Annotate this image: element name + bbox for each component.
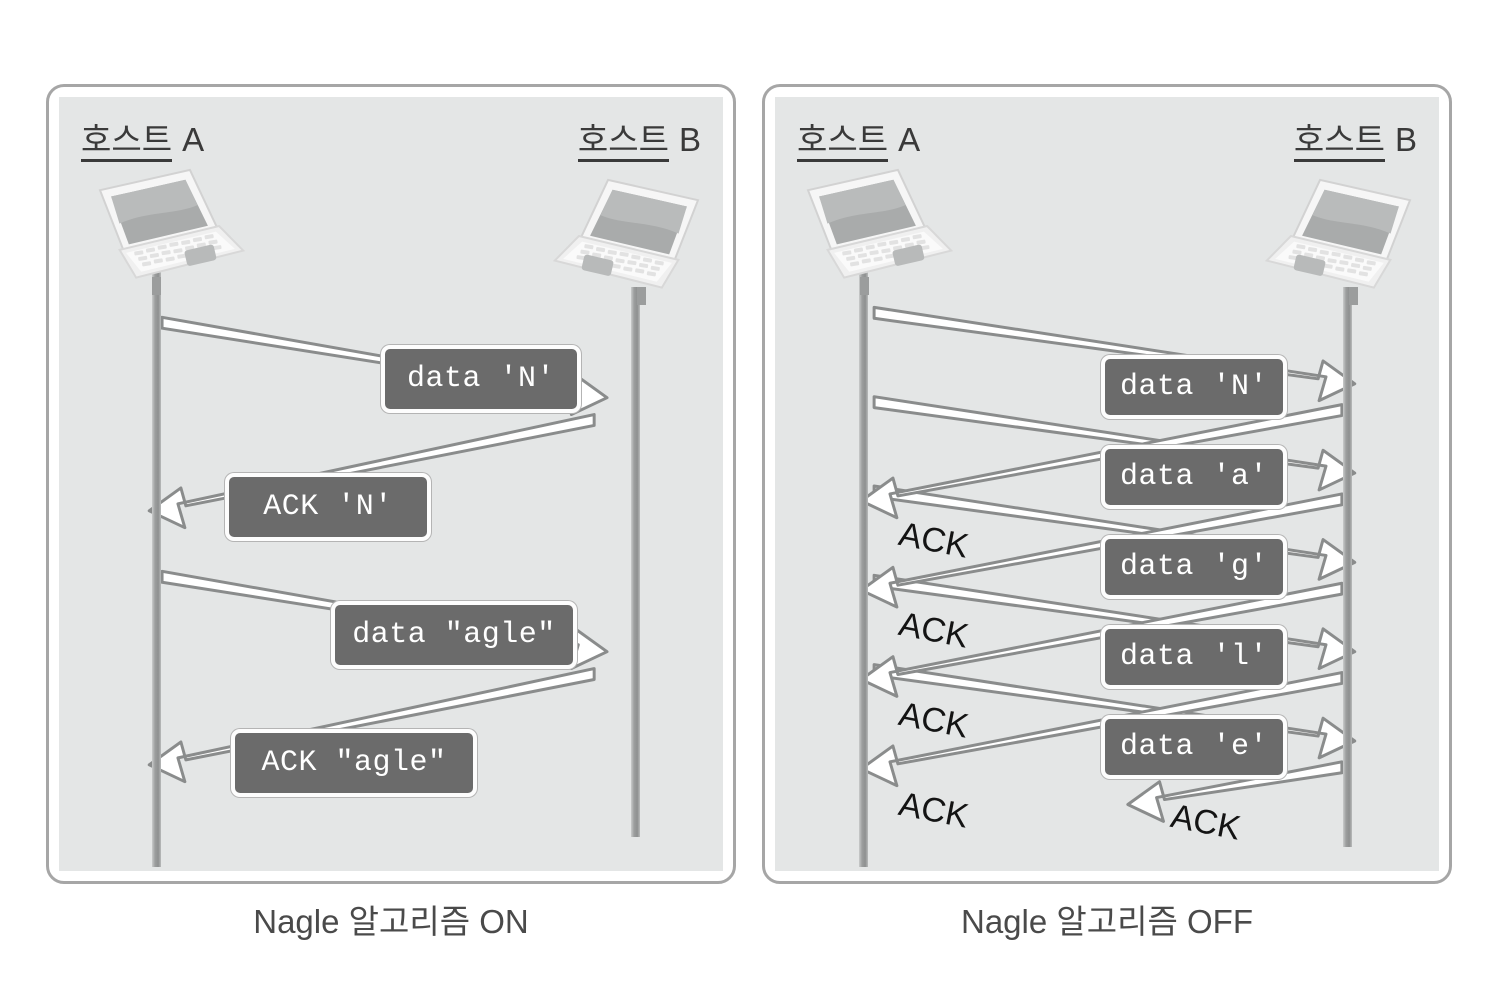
lifeline-host-a-on [152,267,161,867]
ack-label: ACK [1168,797,1244,849]
figure-root: 호스트A 호스트B [0,0,1491,1000]
panel-nagle-on-inner: 호스트A 호스트B [59,97,723,871]
host-label-b-on: 호스트B [578,113,701,161]
message-box: ACK "agle" [231,729,477,797]
lifeline-host-b-on [631,287,640,837]
ack-label: ACK [896,515,972,567]
message-box: data 'N' [1101,355,1287,419]
host-label-a-on-prefix: 호스트 [81,121,172,162]
lifeline-host-b-off [1343,287,1352,847]
host-label-a-off-name: A [888,121,920,158]
laptop-icon [77,165,247,295]
laptop-icon [551,175,721,305]
lifeline-host-a-off [859,267,868,867]
laptop-icon [785,165,955,295]
message-box: data 'g' [1101,535,1287,599]
host-label-a-on-name: A [172,121,204,158]
ack-label: ACK [896,695,972,747]
host-label-b-on-name: B [669,121,701,158]
message-box: data 'e' [1101,715,1287,779]
message-box: data 'a' [1101,445,1287,509]
message-box: data 'l' [1101,625,1287,689]
panel-nagle-off-inner: 호스트A 호스트B [775,97,1439,871]
panel-nagle-off: 호스트A 호스트B [762,84,1452,884]
host-label-a-on: 호스트A [81,113,204,161]
message-box: data 'N' [381,345,581,413]
host-label-a-off-prefix: 호스트 [797,121,888,162]
ack-label: ACK [896,605,972,657]
host-label-b-on-prefix: 호스트 [578,121,669,162]
host-label-b-off: 호스트B [1294,113,1417,161]
caption-nagle-off: Nagle 알고리즘 OFF [762,895,1452,943]
laptop-icon [1263,175,1433,305]
host-label-b-off-name: B [1385,121,1417,158]
ack-label: ACK [896,785,972,837]
message-box: data "agle" [331,601,577,669]
host-label-a-off: 호스트A [797,113,920,161]
message-box: ACK 'N' [225,473,431,541]
panel-nagle-on: 호스트A 호스트B [46,84,736,884]
caption-nagle-on: Nagle 알고리즘 ON [46,895,736,943]
host-label-b-off-prefix: 호스트 [1294,121,1385,162]
